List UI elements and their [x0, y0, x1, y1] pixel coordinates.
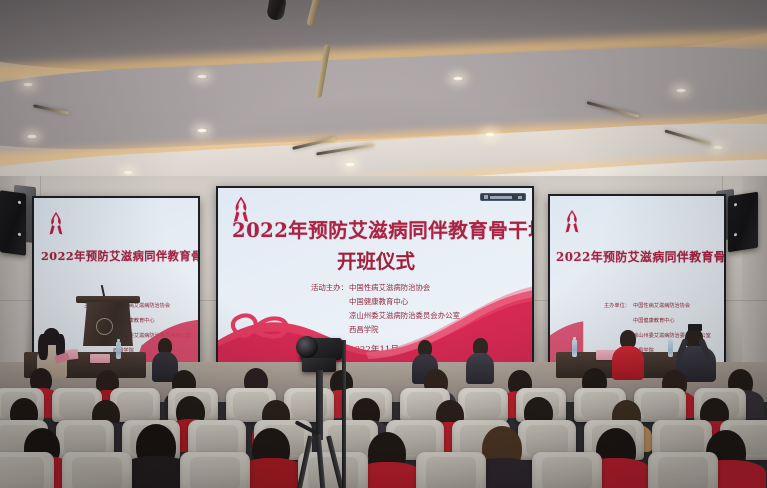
name-card [90, 354, 110, 363]
auditorium-seat[interactable] [532, 452, 602, 488]
downlight-icon [22, 82, 34, 87]
tripod-leg [316, 434, 326, 488]
line-array-speaker-left [0, 190, 26, 256]
screen-right-title: 2022年预防艾滋病同伴教育骨干培训班 [556, 248, 726, 265]
video-camera-rig [286, 330, 396, 488]
auditorium-seat[interactable] [648, 452, 718, 488]
auditorium-seat[interactable] [180, 452, 250, 488]
downlight-icon [675, 88, 687, 93]
main-screen-organizer-1: 中国健康教育中心 [349, 296, 408, 307]
tripod-leg [297, 435, 313, 488]
microphone-stand [342, 340, 348, 488]
tripod-center-column [316, 370, 323, 440]
auditorium-seat[interactable] [0, 452, 54, 488]
downlight-icon [712, 145, 724, 150]
school-crest-icon [96, 318, 113, 335]
auditorium-seat[interactable] [416, 452, 486, 488]
seated-attendee-red-right [612, 330, 644, 378]
downlight-icon [26, 134, 38, 139]
podium-top [76, 296, 140, 303]
main-screen-title-line1: 2022年预防艾滋病同伴教育骨干培训班 [232, 214, 534, 243]
aids-red-ribbon-icon [564, 208, 580, 234]
person-hair [38, 334, 48, 360]
projector-toolbar[interactable] [480, 193, 526, 201]
conference-hall-photo: 2022年预防艾滋病同伴教育骨干培训班 主办单位： 中国性病艾滋病防治协会 中国… [0, 0, 767, 488]
screen-right-organizer-label: 主办单位： [604, 302, 630, 309]
water-bottle [116, 342, 121, 359]
water-bottle [572, 340, 577, 357]
downlight-icon [344, 162, 356, 167]
downlight-icon [122, 170, 134, 175]
auditorium-seat[interactable] [62, 452, 132, 488]
podium [76, 296, 140, 352]
main-screen-organizer-label: 活动主办： [311, 282, 348, 293]
aids-red-ribbon-icon [48, 210, 64, 236]
main-screen-title-line2: 开班仪式 [337, 245, 415, 274]
smartphone-icon [688, 324, 702, 331]
line-array-speaker-right [728, 192, 758, 253]
main-screen-organizer-2: 凉山州委艾滋病防治委员会办公室 [349, 310, 460, 321]
downlight-icon [484, 132, 496, 137]
main-screen-organizer-0: 中国性病艾滋病防治协会 [349, 282, 430, 293]
downlight-icon [452, 76, 464, 81]
ceiling [0, 0, 767, 192]
screen-left-title: 2022年预防艾滋病同伴教育骨干培训班 [41, 248, 200, 264]
downlight-icon [196, 128, 208, 133]
water-bottle [668, 340, 673, 357]
screen-right-organizer-1: 中国健康教育中心 [633, 317, 675, 324]
downlight-icon [196, 74, 208, 79]
camera-lens-icon [296, 336, 318, 358]
screen-right-organizer-0: 中国性病艾滋病防治协会 [633, 302, 690, 309]
